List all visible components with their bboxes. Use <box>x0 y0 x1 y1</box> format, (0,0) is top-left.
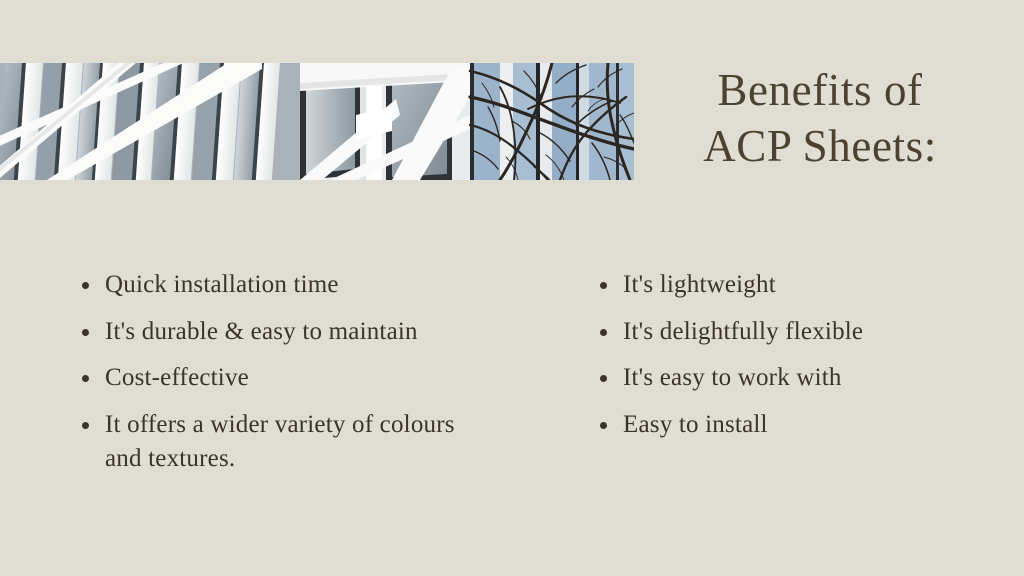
list-item-label: Cost-effective <box>105 361 249 395</box>
list-item: It's lightweight <box>600 268 1000 302</box>
list-item-label: It's durable & easy to maintain <box>105 315 418 349</box>
facade-illustration <box>0 63 634 180</box>
bullet-dot-icon <box>600 282 607 289</box>
hero-building-facade-image <box>0 63 634 180</box>
list-item: Cost-effective <box>82 361 552 395</box>
benefits-column-right: It's lightweight It's delightfully flexi… <box>600 268 1000 454</box>
benefits-column-left: Quick installation time It's durable & e… <box>82 268 552 488</box>
benefits-columns: Quick installation time It's durable & e… <box>0 268 1024 508</box>
list-item: Easy to install <box>600 408 1000 442</box>
bullet-dot-icon <box>600 329 607 336</box>
list-item-label: It offers a wider variety of colours and… <box>105 408 477 476</box>
list-item: It's easy to work with <box>600 361 1000 395</box>
slide-title: Benefits of ACP Sheets: <box>648 62 992 174</box>
bullet-dot-icon <box>600 422 607 429</box>
bullet-dot-icon <box>82 282 89 289</box>
bullet-dot-icon <box>82 422 89 429</box>
title-line-2: ACP Sheets: <box>648 118 992 174</box>
list-item: It offers a wider variety of colours and… <box>82 408 552 476</box>
list-item-label: Quick installation time <box>105 268 339 302</box>
bullet-dot-icon <box>82 329 89 336</box>
list-item-label: It's lightweight <box>623 268 776 302</box>
list-item: It's durable & easy to maintain <box>82 315 552 349</box>
bullet-dot-icon <box>600 375 607 382</box>
bullet-dot-icon <box>82 375 89 382</box>
list-item-label: It's delightfully flexible <box>623 315 863 349</box>
list-item: It's delightfully flexible <box>600 315 1000 349</box>
list-item-label: It's easy to work with <box>623 361 842 395</box>
list-item: Quick installation time <box>82 268 552 302</box>
title-line-1: Benefits of <box>648 62 992 118</box>
slide-canvas: Benefits of ACP Sheets: Quick installati… <box>0 0 1024 576</box>
list-item-label: Easy to install <box>623 408 768 442</box>
